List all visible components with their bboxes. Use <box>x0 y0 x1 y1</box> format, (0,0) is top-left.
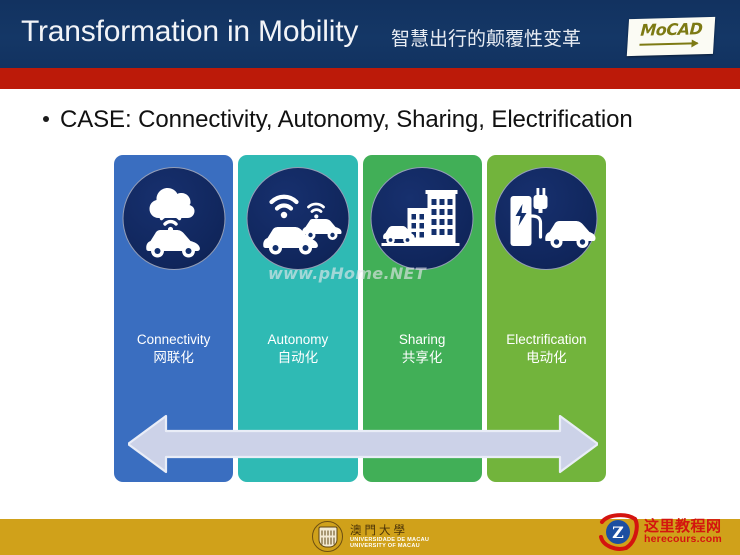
university-of-macau-logo: 澳門大學 UNIVERSIDADE DE MACAU UNIVERSITY OF… <box>312 521 429 552</box>
case-columns: Connectivity 网联化 <box>114 155 606 482</box>
column-label-en: Connectivity <box>114 331 233 349</box>
slide-canvas: Transformation in Mobility 智慧出行的颠覆性变革 Mo… <box>0 0 740 555</box>
column-labels: Electrification 电动化 <box>487 331 606 367</box>
bullet-dot-icon <box>43 116 49 122</box>
column-label-en: Electrification <box>487 331 606 349</box>
column-label-zh: 自动化 <box>238 349 357 367</box>
column-labels: Autonomy 自动化 <box>238 331 357 367</box>
column-label-zh: 共享化 <box>363 349 482 367</box>
column-label-en: Autonomy <box>238 331 357 349</box>
column-label-zh: 电动化 <box>487 349 606 367</box>
mocad-logo-text: MoCAD <box>628 19 715 40</box>
site-watermark: Z 这里教程网 herecours.com <box>598 513 722 551</box>
column-label-zh: 网联化 <box>114 349 233 367</box>
city-buildings-car-icon <box>371 167 474 270</box>
site-watermark-url: herecours.com <box>644 534 722 545</box>
university-name-en: UNIVERSITY OF MACAU <box>350 543 429 549</box>
university-seal-icon <box>312 521 343 552</box>
page-subtitle-chinese: 智慧出行的颠覆性变革 <box>391 24 581 51</box>
university-name-pt: UNIVERSIDADE DE MACAU <box>350 537 429 543</box>
svg-text:Z: Z <box>612 523 624 542</box>
mocad-logo: MoCAD <box>627 17 715 56</box>
site-watermark-zh: 这里教程网 <box>644 519 722 535</box>
charging-station-car-icon <box>495 167 598 270</box>
column-label-en: Sharing <box>363 331 482 349</box>
column-electrification[interactable]: Electrification 电动化 <box>487 155 606 482</box>
column-connectivity[interactable]: Connectivity 网联化 <box>114 155 233 482</box>
bullet-line: CASE: Connectivity, Autonomy, Sharing, E… <box>43 106 633 134</box>
header-accent-rule <box>0 68 740 89</box>
university-name-zh: 澳門大學 <box>350 524 429 536</box>
bullet-text: CASE: Connectivity, Autonomy, Sharing, E… <box>60 106 633 134</box>
column-autonomy[interactable]: Autonomy 自动化 <box>238 155 357 482</box>
site-watermark-logo-icon: Z <box>598 513 640 551</box>
two-cars-wifi-icon <box>246 167 349 270</box>
column-labels: Connectivity 网联化 <box>114 331 233 367</box>
page-title: Transformation in Mobility <box>21 15 358 49</box>
column-labels: Sharing 共享化 <box>363 331 482 367</box>
center-watermark: www.pHome.NET <box>268 264 426 283</box>
cloud-wifi-car-icon <box>122 167 225 270</box>
mocad-arrow-icon <box>639 42 697 46</box>
column-sharing[interactable]: Sharing 共享化 <box>363 155 482 482</box>
